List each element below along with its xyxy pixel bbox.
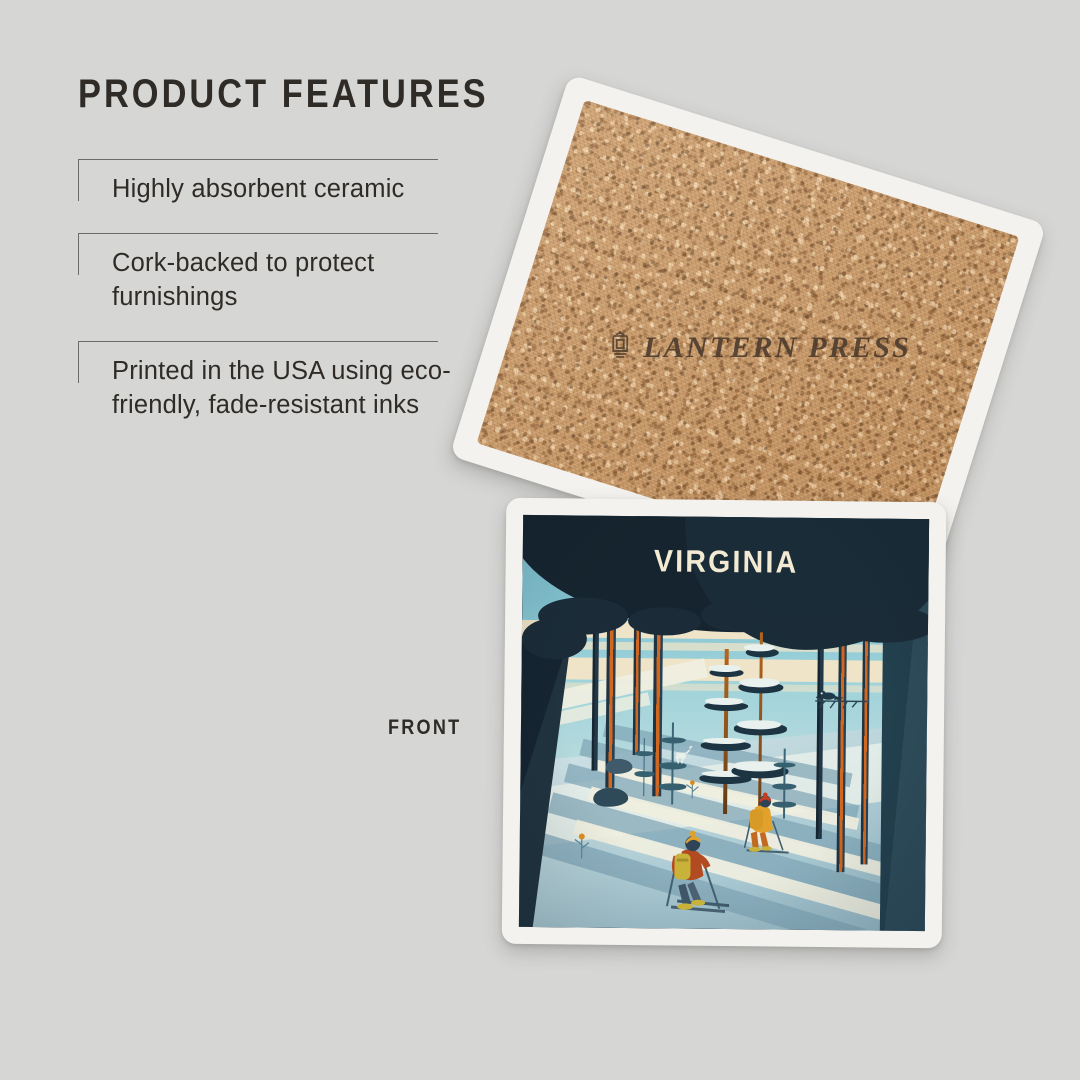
coaster-front: VIRGINIA: [502, 498, 947, 949]
ski-scene-artwork: VIRGINIA: [519, 515, 929, 931]
feature-divider: [78, 159, 438, 160]
snow-twig: [568, 828, 594, 863]
label-front: FRONT: [388, 716, 461, 740]
conifer-stem: [643, 739, 645, 797]
lantern-icon: [607, 330, 633, 365]
product-feature-graphic: PRODUCT FEATURES Highly absorbent cerami…: [0, 0, 1080, 1080]
feature-text: Printed in the USA using eco-friendly, f…: [112, 355, 458, 423]
bird-on-branch: [813, 687, 879, 725]
feature-divider: [78, 233, 438, 234]
skier-background: [739, 789, 796, 863]
conifer-limb: [635, 751, 653, 756]
feature-text: Cork-backed to protect furnishings: [112, 247, 458, 315]
feature-item: Printed in the USA using eco-friendly, f…: [78, 341, 458, 429]
bough: [522, 618, 587, 660]
art-title-band: VIRGINIA: [523, 542, 929, 582]
snow-twig: [683, 776, 703, 803]
feature-tick: [78, 341, 79, 383]
feature-tick: [78, 159, 79, 201]
deer: [667, 743, 693, 770]
conifer-limb: [634, 771, 654, 777]
product-features-panel: PRODUCT FEATURES Highly absorbent cerami…: [78, 72, 458, 449]
art-surface: VIRGINIA: [519, 515, 929, 931]
rock: [606, 759, 633, 774]
feature-item: Cork-backed to protect furnishings: [78, 233, 458, 321]
feature-divider: [78, 341, 438, 342]
conifer-limb: [774, 762, 795, 768]
feature-item: Highly absorbent ceramic: [78, 159, 458, 213]
brand-stamp: LANTERN PRESS: [607, 330, 911, 365]
skier-foreground: [661, 821, 738, 919]
art-title: VIRGINIA: [653, 543, 798, 581]
brand-name: LANTERN PRESS: [643, 331, 911, 365]
feature-text: Highly absorbent ceramic: [112, 173, 458, 207]
background-fir: [634, 739, 655, 797]
page-title: PRODUCT FEATURES: [78, 72, 405, 117]
feature-tick: [78, 233, 79, 275]
rock: [593, 788, 628, 807]
